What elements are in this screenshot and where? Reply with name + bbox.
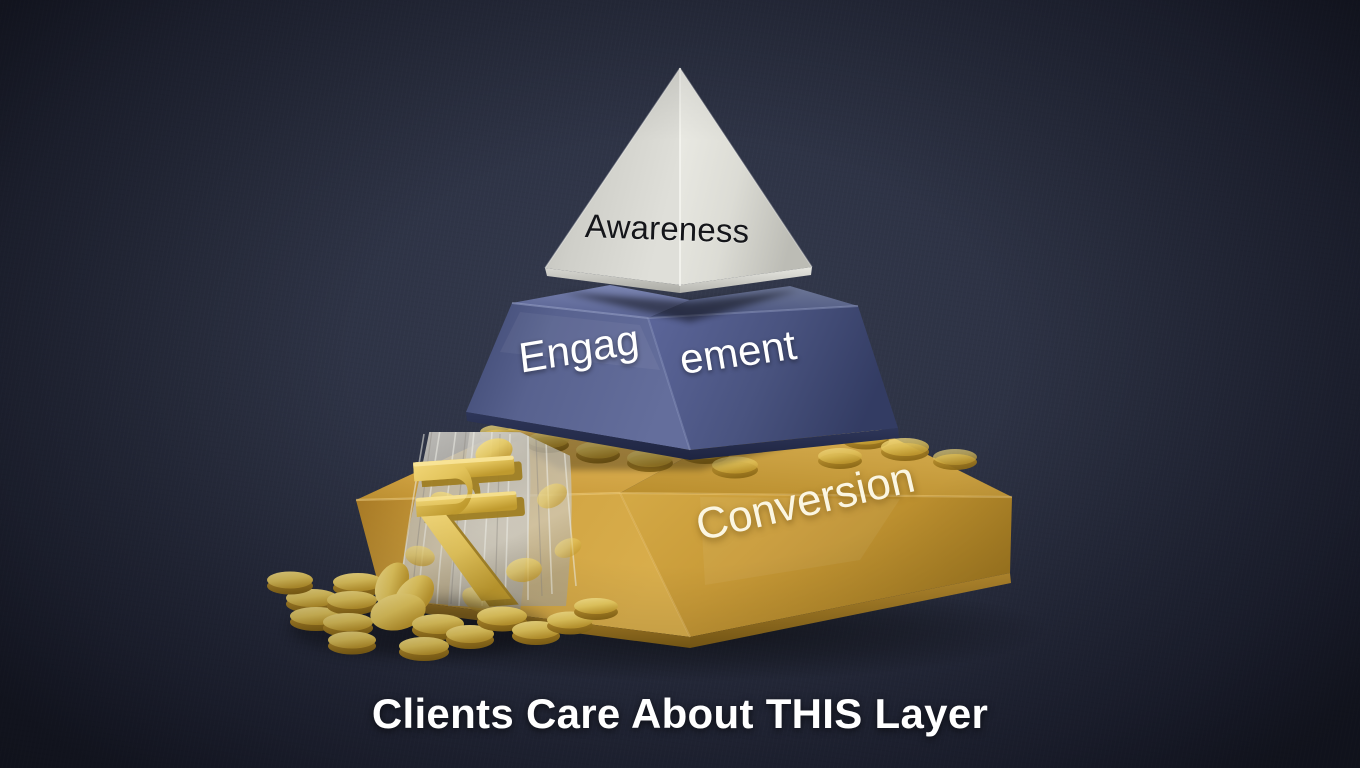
blue-face-right xyxy=(648,306,898,450)
white-face-right xyxy=(680,68,812,285)
tier-awareness xyxy=(545,68,812,293)
white-face-left xyxy=(545,68,680,285)
caption-text: Clients Care About THIS Layer xyxy=(0,690,1360,738)
funnel-pyramid-scene: Awareness Engag ement Conversion Clients… xyxy=(0,0,1360,768)
pyramid-illustration xyxy=(0,0,1360,768)
